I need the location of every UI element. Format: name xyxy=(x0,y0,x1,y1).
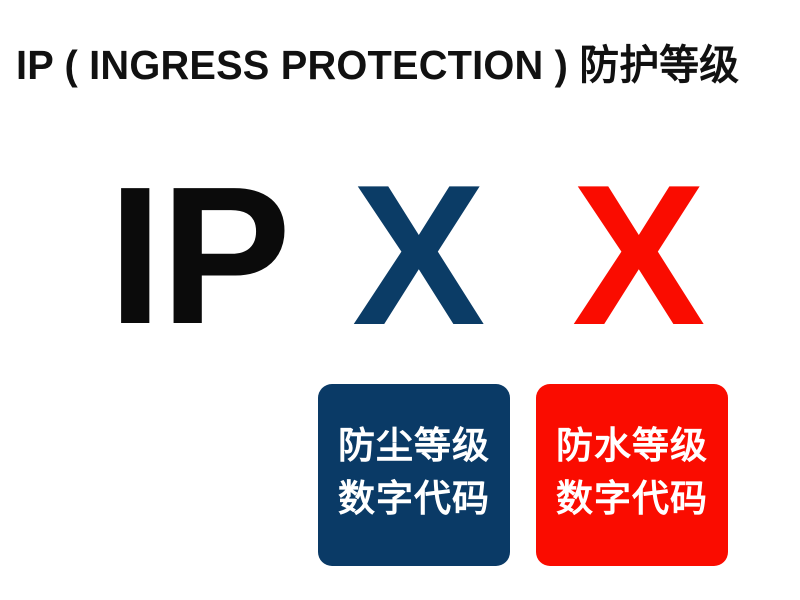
water-rating-label-line1: 防水等级 xyxy=(556,420,708,473)
ip-code-row: IP X X xyxy=(0,172,800,347)
water-rating-callout: 防水等级 数字代码 xyxy=(536,384,728,566)
page-title: IP ( INGRESS PROTECTION ) 防护等级 xyxy=(16,36,788,94)
dust-rating-callout: 防尘等级 数字代码 xyxy=(318,384,510,566)
page-title-text: IP ( INGRESS PROTECTION ) 防护等级 xyxy=(16,45,739,86)
ip-rating-infographic: IP ( INGRESS PROTECTION ) 防护等级 IP X X 防尘… xyxy=(0,0,800,600)
water-rating-label-line2: 数字代码 xyxy=(556,473,708,526)
dust-rating-label-line1: 防尘等级 xyxy=(338,420,490,473)
dust-rating-label-line2: 数字代码 xyxy=(338,473,490,526)
ip-prefix-glyph: IP xyxy=(108,172,289,347)
ip-dust-digit-glyph: X xyxy=(352,172,483,347)
ip-water-digit-glyph: X xyxy=(572,172,703,347)
